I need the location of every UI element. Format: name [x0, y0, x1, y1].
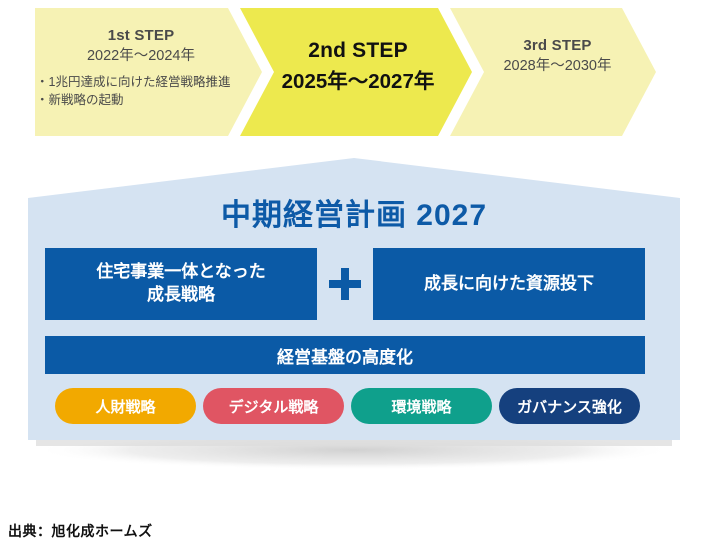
house-diagram: 中期経営計画 2027 住宅事業一体となった 成長戦略 成長に向けた資源投下 [0, 150, 708, 480]
step-3-name: 3rd STEP [470, 36, 645, 55]
pillar-growth-strategy: 住宅事業一体となった 成長戦略 [45, 248, 317, 320]
step-1-bullet-2: ・新戦略の起動 [36, 91, 246, 109]
source-caption: 出典：旭化成ホームズ [8, 521, 153, 541]
step-1-name: 1st STEP [36, 26, 246, 45]
step-1-bullets: ・1兆円達成に向けた経営戦略推進 ・新戦略の起動 [36, 73, 246, 109]
page-title: 中期経営計画 2027 [0, 190, 708, 234]
pill-human-capital-strategy: 人財戦略 [55, 388, 196, 424]
pill-governance-strengthening: ガバナンス強化 [499, 388, 640, 424]
house-content: 中期経営計画 2027 住宅事業一体となった 成長戦略 成長に向けた資源投下 [0, 150, 708, 480]
step-2-years: 2025年〜2027年 [258, 69, 458, 95]
roadmap-steps-band: 1st STEP 2022年〜2024年 ・1兆円達成に向けた経営戦略推進 ・新… [0, 0, 708, 145]
pillar-growth-strategy-line1: 住宅事業一体となった [96, 262, 266, 281]
step-2-label: 2nd STEP 2025年〜2027年 [258, 38, 458, 95]
pill-digital-strategy: デジタル戦略 [203, 388, 344, 424]
pillar-resource-investment: 成長に向けた資源投下 [373, 248, 645, 320]
step-1-bullet-1: ・1兆円達成に向けた経営戦略推進 [36, 73, 246, 91]
pillar-growth-strategy-text: 住宅事業一体となった 成長戦略 [96, 261, 266, 307]
plus-icon [317, 248, 373, 320]
step-3-years: 2028年〜2030年 [470, 57, 645, 76]
step-2-name: 2nd STEP [258, 38, 458, 65]
pillar-resource-investment-line1: 成長に向けた資源投下 [424, 273, 594, 296]
pillar-growth-strategy-line2: 成長戦略 [147, 285, 215, 304]
plus-icon-glyph [326, 265, 364, 303]
pill-environment-strategy: 環境戦略 [351, 388, 492, 424]
step-3-label: 3rd STEP 2028年〜2030年 [470, 36, 645, 76]
step-1-years: 2022年〜2024年 [36, 47, 246, 66]
strategy-pills-row: 人財戦略 デジタル戦略 環境戦略 ガバナンス強化 [45, 388, 645, 424]
step-1-label: 1st STEP 2022年〜2024年 ・1兆円達成に向けた経営戦略推進 ・新… [36, 26, 246, 109]
diagram-canvas: 1st STEP 2022年〜2024年 ・1兆円達成に向けた経営戦略推進 ・新… [0, 0, 708, 559]
foundation-bar: 経営基盤の高度化 [45, 336, 645, 374]
strategy-pillars-row: 住宅事業一体となった 成長戦略 成長に向けた資源投下 [45, 248, 645, 320]
